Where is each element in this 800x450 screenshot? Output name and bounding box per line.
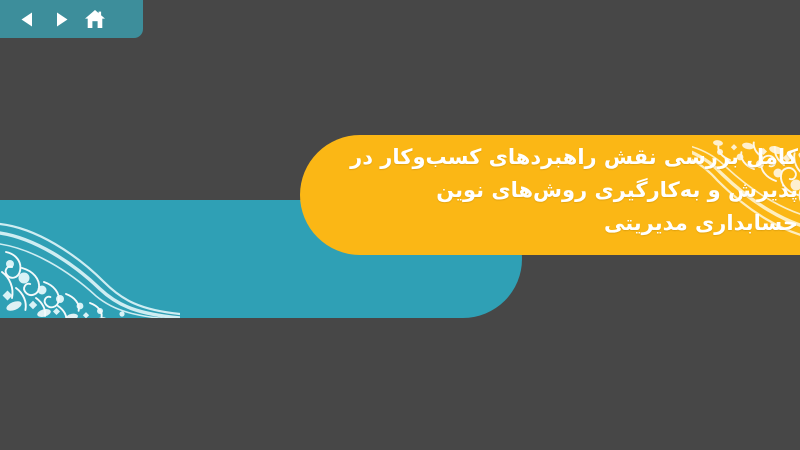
slide-title: کامل بررسی نقش راهبردهای کسب‌وکار در پذی… [286, 141, 800, 240]
forward-button[interactable] [44, 4, 78, 34]
back-button[interactable] [10, 4, 44, 34]
home-button[interactable] [78, 4, 112, 34]
title-line-2: پذیرش و به‌کارگیری روش‌های نوین [294, 174, 798, 207]
arabesque-corner-ornament-teal [0, 206, 180, 318]
title-line-3: حسابداری مدیریتی [294, 207, 798, 240]
triangle-right-icon [52, 10, 71, 29]
home-icon [84, 9, 106, 30]
triangle-left-icon [18, 10, 37, 29]
navigation-bar [0, 0, 143, 38]
title-line-1: کامل بررسی نقش راهبردهای کسب‌وکار در [294, 141, 798, 174]
slide-canvas: کامل بررسی نقش راهبردهای کسب‌وکار در پذی… [0, 0, 800, 450]
